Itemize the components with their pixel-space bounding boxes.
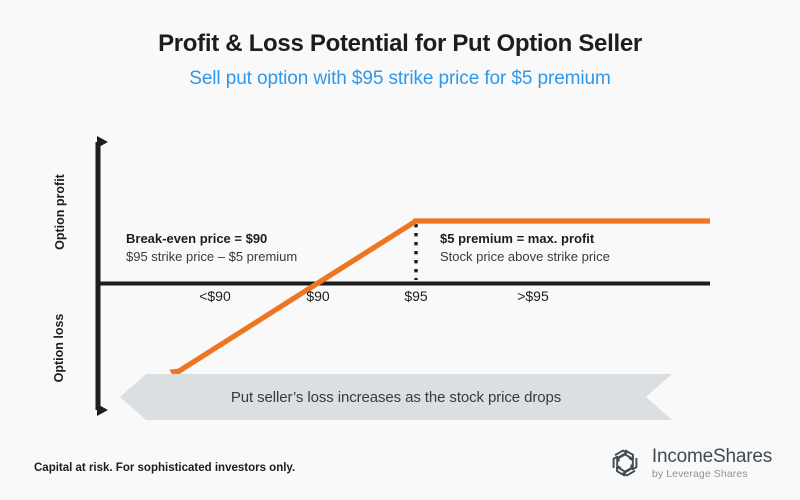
annotation-max-profit-heading: $5 premium = max. profit <box>440 231 610 246</box>
loss-direction-banner: Put seller’s loss increases as the stock… <box>120 374 672 420</box>
annotation-break-even: Break-even price = $90 $95 strike price … <box>126 231 297 264</box>
x-tick-below-90: <$90 <box>160 288 270 304</box>
brand-logo: IncomeShares by Leverage Shares <box>608 446 772 480</box>
y-axis-label-profit: Option profit <box>53 132 67 292</box>
payoff-chart-svg <box>0 0 800 500</box>
risk-disclaimer: Capital at risk. For sophisticated inves… <box>34 462 295 474</box>
y-axis-label-loss: Option loss <box>52 283 66 413</box>
annotation-max-profit: $5 premium = max. profit Stock price abo… <box>440 231 610 264</box>
annotation-max-profit-detail: Stock price above strike price <box>440 249 610 264</box>
plot-area <box>0 0 800 500</box>
hexagon-pinwheel-icon <box>608 446 642 480</box>
chart-page: Profit & Loss Potential for Put Option S… <box>0 0 800 500</box>
loss-direction-banner-text: Put seller’s loss increases as the stock… <box>120 374 672 420</box>
brand-logo-text: IncomeShares by Leverage Shares <box>652 447 772 480</box>
x-tick-above-95: >$95 <box>478 288 588 304</box>
x-tick-95: $95 <box>366 288 466 304</box>
x-tick-90: $90 <box>268 288 368 304</box>
brand-name: IncomeShares <box>652 447 772 466</box>
annotation-break-even-heading: Break-even price = $90 <box>126 231 297 246</box>
brand-tagline: by Leverage Shares <box>652 469 772 480</box>
annotation-break-even-detail: $95 strike price – $5 premium <box>126 249 297 264</box>
